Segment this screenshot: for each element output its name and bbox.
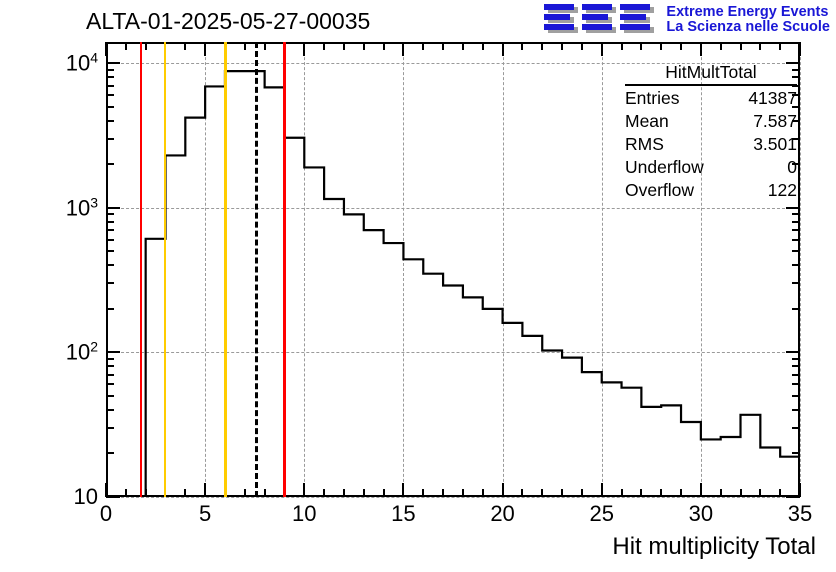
- x-tick-major-top: [700, 42, 702, 56]
- x-tick-major: [204, 483, 206, 497]
- y-tick-minor-right: [792, 365, 800, 367]
- stats-key: RMS: [625, 133, 678, 156]
- x-tick-minor-top: [779, 42, 781, 50]
- x-tick-minor-top: [125, 42, 127, 50]
- yellow-line-high: [224, 42, 227, 497]
- y-tick-minor: [106, 409, 114, 411]
- y-tick-major: [106, 351, 120, 353]
- x-tick-minor-top: [442, 42, 444, 50]
- x-tick-minor: [759, 489, 761, 497]
- x-tick-minor: [145, 489, 147, 497]
- y-tick-minor-right: [792, 358, 800, 360]
- x-tick-minor-top: [521, 42, 523, 50]
- x-tick-minor: [541, 489, 543, 497]
- x-tick-major: [303, 483, 305, 497]
- red-line-high: [283, 42, 286, 497]
- x-axis-title: Hit multiplicity Total: [612, 533, 816, 561]
- x-tick-minor-top: [541, 42, 543, 50]
- y-tick-minor: [106, 250, 114, 252]
- x-tick-minor-top: [422, 42, 424, 50]
- x-tick-minor-top: [184, 42, 186, 50]
- x-tick-label: 10: [292, 501, 316, 527]
- x-tick-minor: [740, 489, 742, 497]
- x-tick-minor-top: [581, 42, 583, 50]
- x-tick-minor: [621, 489, 623, 497]
- x-tick-label: 25: [589, 501, 613, 527]
- y-tick-minor: [106, 365, 114, 367]
- x-tick-minor: [640, 489, 642, 497]
- y-tick-minor-right: [792, 239, 800, 241]
- x-tick-minor: [779, 489, 781, 497]
- y-tick-minor-right: [792, 374, 800, 376]
- x-tick-minor-top: [145, 42, 147, 50]
- x-tick-minor: [343, 489, 345, 497]
- y-tick-minor: [106, 69, 114, 71]
- y-tick-minor-right: [792, 229, 800, 231]
- x-tick-minor: [581, 489, 583, 497]
- x-tick-minor: [720, 489, 722, 497]
- y-tick-minor: [106, 452, 114, 454]
- stats-row: RMS3.501: [625, 133, 797, 156]
- x-tick-minor-top: [244, 42, 246, 50]
- x-tick-minor-top: [462, 42, 464, 50]
- gridline-vertical: [800, 42, 801, 497]
- y-tick-minor: [106, 163, 114, 165]
- y-tick-minor: [106, 85, 114, 87]
- x-tick-label: 20: [490, 501, 514, 527]
- x-tick-minor-top: [759, 42, 761, 50]
- y-tick-major-right: [786, 496, 800, 498]
- x-tick-major-top: [105, 42, 107, 56]
- y-tick-minor: [106, 358, 114, 360]
- x-tick-minor-top: [720, 42, 722, 50]
- y-tick-label: 103: [30, 194, 98, 221]
- y-tick-minor: [106, 383, 114, 385]
- x-tick-minor: [125, 489, 127, 497]
- x-tick-minor: [422, 489, 424, 497]
- stats-key: Underflow: [625, 156, 718, 179]
- stats-row: Entries41387: [625, 87, 797, 110]
- x-tick-minor: [323, 489, 325, 497]
- y-tick-minor: [106, 94, 114, 96]
- x-tick-major: [502, 483, 504, 497]
- y-tick-major: [106, 496, 120, 498]
- y-tick-minor-right: [792, 264, 800, 266]
- x-tick-major: [799, 483, 801, 497]
- y-tick-minor-right: [792, 282, 800, 284]
- stats-value: 7.587: [753, 110, 797, 133]
- x-tick-minor: [244, 489, 246, 497]
- x-tick-label: 30: [689, 501, 713, 527]
- x-tick-major: [601, 483, 603, 497]
- y-tick-minor: [106, 374, 114, 376]
- x-tick-label: 35: [788, 501, 812, 527]
- x-tick-major-top: [502, 42, 504, 56]
- x-tick-major-top: [303, 42, 305, 56]
- y-tick-minor-right: [792, 383, 800, 385]
- stats-row: Mean7.587: [625, 110, 797, 133]
- y-tick-minor: [106, 395, 114, 397]
- x-tick-minor: [660, 489, 662, 497]
- y-tick-minor: [106, 308, 114, 310]
- y-tick-major-right: [786, 351, 800, 353]
- red-line-low: [140, 42, 143, 497]
- stats-row: Underflow0: [625, 156, 797, 179]
- stats-value: 3.501: [753, 133, 797, 156]
- y-tick-minor: [106, 264, 114, 266]
- y-tick-label: 10: [30, 484, 98, 510]
- gridline-horizontal: [106, 497, 800, 498]
- x-tick-minor: [264, 489, 266, 497]
- y-tick-label: 104: [30, 49, 98, 76]
- x-tick-minor-top: [383, 42, 385, 50]
- y-tick-minor-right: [792, 427, 800, 429]
- y-tick-minor: [106, 213, 114, 215]
- y-tick-minor-right: [792, 213, 800, 215]
- y-tick-minor-right: [792, 395, 800, 397]
- y-tick-minor: [106, 76, 114, 78]
- logo-line-2: La Scienza nelle Scuole: [666, 20, 830, 35]
- stats-box: HitMultTotal Entries41387Mean7.587RMS3.5…: [625, 62, 797, 202]
- x-tick-minor: [680, 489, 682, 497]
- x-tick-minor-top: [363, 42, 365, 50]
- y-tick-minor-right: [792, 452, 800, 454]
- y-tick-minor: [106, 239, 114, 241]
- y-tick-minor-right: [792, 409, 800, 411]
- eee-logo: Extreme Energy Events La Scienza nelle S…: [542, 2, 830, 38]
- stats-title: HitMultTotal: [625, 62, 797, 86]
- x-tick-major-top: [402, 42, 404, 56]
- x-tick-minor-top: [680, 42, 682, 50]
- y-tick-minor: [106, 120, 114, 122]
- logo-line-1: Extreme Energy Events: [666, 5, 830, 20]
- x-tick-minor: [561, 489, 563, 497]
- x-tick-major-top: [204, 42, 206, 56]
- stats-row: Overflow122: [625, 179, 797, 202]
- x-tick-minor: [442, 489, 444, 497]
- x-tick-major: [700, 483, 702, 497]
- stats-key: Mean: [625, 110, 683, 133]
- x-tick-minor-top: [740, 42, 742, 50]
- y-tick-minor-right: [792, 308, 800, 310]
- y-tick-minor: [106, 282, 114, 284]
- mean-line: [255, 42, 258, 497]
- y-tick-minor: [106, 106, 114, 108]
- y-tick-label: 102: [30, 339, 98, 366]
- page-title: ALTA-01-2025-05-27-00035: [86, 8, 370, 35]
- x-tick-major: [402, 483, 404, 497]
- y-tick-minor: [106, 229, 114, 231]
- x-tick-minor-top: [343, 42, 345, 50]
- stats-key: Entries: [625, 87, 693, 110]
- y-tick-minor: [106, 221, 114, 223]
- x-tick-minor-top: [660, 42, 662, 50]
- eee-logo-icon: [542, 2, 660, 38]
- x-tick-minor-top: [482, 42, 484, 50]
- y-tick-minor: [106, 427, 114, 429]
- x-tick-major: [105, 483, 107, 497]
- x-tick-minor-top: [621, 42, 623, 50]
- y-tick-major-right: [786, 207, 800, 209]
- stats-value: 41387: [748, 87, 797, 110]
- x-tick-minor-top: [640, 42, 642, 50]
- x-tick-minor-top: [561, 42, 563, 50]
- x-tick-label: 0: [100, 501, 112, 527]
- x-tick-label: 15: [391, 501, 415, 527]
- yellow-line-low: [164, 42, 167, 497]
- x-tick-label: 5: [199, 501, 211, 527]
- y-tick-minor-right: [792, 221, 800, 223]
- y-tick-major: [106, 62, 120, 64]
- x-tick-minor: [363, 489, 365, 497]
- x-tick-minor: [462, 489, 464, 497]
- y-tick-minor: [106, 138, 114, 140]
- x-tick-minor: [383, 489, 385, 497]
- stats-key: Overflow: [625, 179, 708, 202]
- x-tick-minor: [184, 489, 186, 497]
- x-tick-major-top: [799, 42, 801, 56]
- y-tick-major: [106, 207, 120, 209]
- x-tick-minor-top: [323, 42, 325, 50]
- stats-value: 122: [768, 179, 797, 202]
- stats-value: 0: [787, 156, 797, 179]
- y-tick-minor-right: [792, 250, 800, 252]
- x-tick-major-top: [601, 42, 603, 56]
- x-tick-minor: [521, 489, 523, 497]
- x-tick-minor-top: [264, 42, 266, 50]
- x-tick-minor: [482, 489, 484, 497]
